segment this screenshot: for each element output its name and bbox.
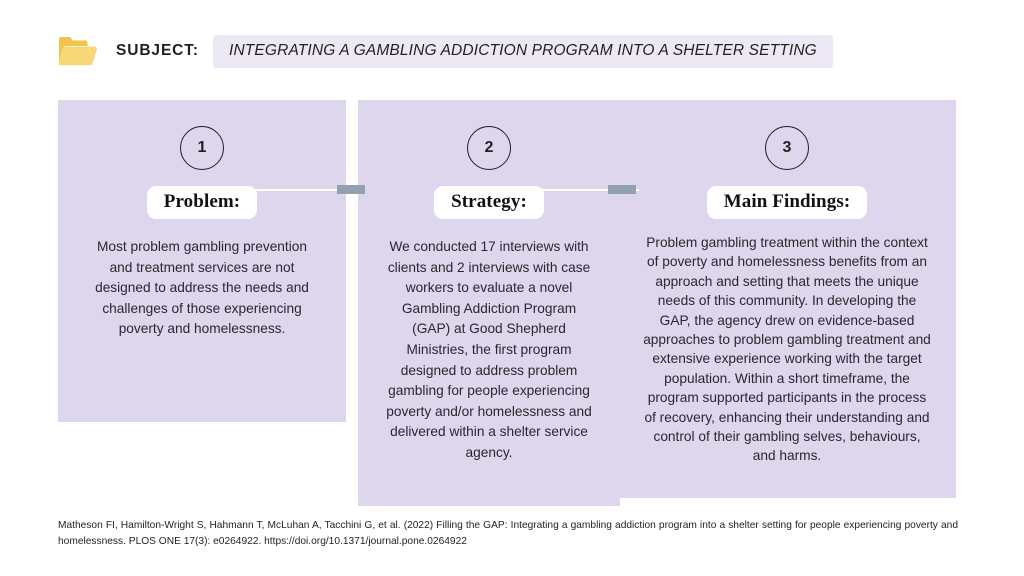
step-title-pill-2: Strategy: [434, 186, 544, 219]
step-badge-1: 1 [180, 126, 224, 170]
step-body-1: Most problem gambling prevention and tre… [95, 237, 310, 340]
step-number-3: 3 [783, 139, 792, 157]
hexagon-content-3: 3 Main Findings: Problem gambling treatm… [618, 100, 956, 498]
connector-bar-2-3 [608, 185, 636, 194]
step-title-1: Problem: [164, 191, 240, 213]
citation-text: Matheson FI, Hamilton-Wright S, Hahmann … [58, 518, 958, 549]
step-title-pill-1: Problem: [147, 186, 257, 219]
step-title-pill-3: Main Findings: [707, 186, 868, 219]
step-body-2: We conducted 17 interviews with clients … [381, 237, 597, 464]
step-badge-2: 2 [467, 126, 511, 170]
step-hexagon-2: 2 Strategy: We conducted 17 interviews w… [358, 100, 620, 506]
subject-label: SUBJECT: [116, 42, 199, 60]
connector-bar-1-2 [337, 185, 365, 194]
subject-header: SUBJECT: INTEGRATING A GAMBLING ADDICTIO… [58, 28, 833, 74]
subject-text: INTEGRATING A GAMBLING ADDICTION PROGRAM… [229, 42, 817, 60]
step-hexagon-1: 1 Problem: Most problem gambling prevent… [58, 100, 346, 422]
subject-banner: INTEGRATING A GAMBLING ADDICTION PROGRAM… [213, 35, 833, 68]
hexagon-content-2: 2 Strategy: We conducted 17 interviews w… [358, 100, 620, 506]
step-title-2: Strategy: [451, 191, 527, 213]
step-number-1: 1 [198, 139, 207, 157]
step-hexagon-3: 3 Main Findings: Problem gambling treatm… [618, 100, 956, 498]
step-title-3: Main Findings: [724, 191, 851, 213]
step-body-3: Problem gambling treatment within the co… [642, 233, 932, 466]
hexagon-content-1: 1 Problem: Most problem gambling prevent… [58, 100, 346, 422]
step-number-2: 2 [485, 139, 494, 157]
step-badge-3: 3 [765, 126, 809, 170]
folder-icon [58, 34, 98, 68]
